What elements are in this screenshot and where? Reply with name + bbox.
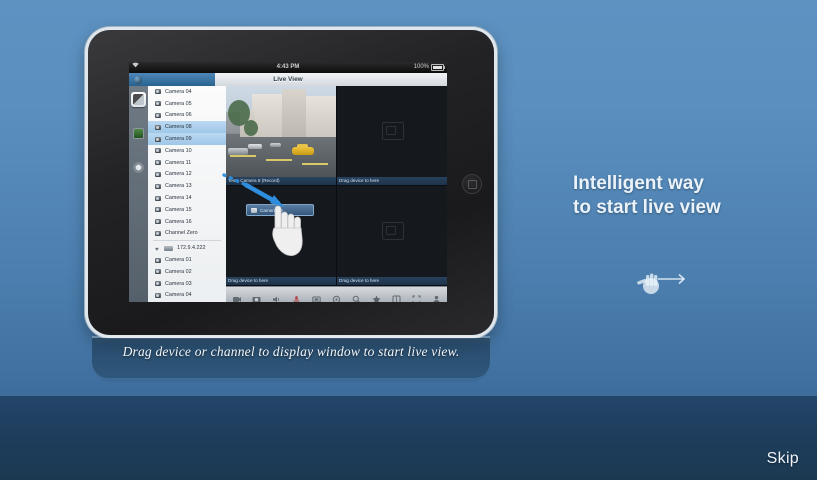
camera-icon bbox=[155, 281, 161, 286]
status-time: 4:43 PM bbox=[129, 62, 447, 73]
headline-line-1: Intelligent way bbox=[573, 172, 803, 196]
tree-item-label: Camera 15 bbox=[165, 207, 192, 213]
home-button-icon[interactable] bbox=[462, 174, 482, 194]
camera-icon bbox=[155, 113, 161, 118]
camera-icon bbox=[155, 269, 161, 274]
tree-item-camera[interactable]: Camera 11 bbox=[148, 157, 226, 169]
ios-status-bar: 4:43 PM 100% bbox=[129, 62, 447, 73]
camera-icon bbox=[155, 160, 161, 165]
camera-icon bbox=[251, 208, 257, 213]
empty-window-icon bbox=[382, 222, 404, 240]
tree-item-camera[interactable]: Camera 03 bbox=[148, 278, 226, 290]
tree-item-camera[interactable]: Channel Zero bbox=[148, 228, 226, 240]
tree-item-label: Camera 03 bbox=[165, 281, 192, 287]
tree-item-camera[interactable]: Camera 15 bbox=[148, 204, 226, 216]
empty-window-icon bbox=[382, 122, 404, 140]
tree-item-camera[interactable]: Camera 08 bbox=[148, 121, 226, 133]
sidebar-item-playback[interactable] bbox=[131, 126, 146, 141]
skip-button[interactable]: Skip bbox=[767, 450, 799, 468]
video-cell-label: Test : Camera 8 (Record) bbox=[226, 177, 336, 185]
tree-item-camera[interactable]: Camera 04 bbox=[148, 86, 226, 98]
video-cell-label: Drag device to here bbox=[226, 277, 336, 285]
tree-item-camera[interactable]: Camera 06 bbox=[148, 110, 226, 122]
device-tree-panel[interactable]: Camera 04Camera 05Camera 06Camera 08Came… bbox=[148, 86, 227, 302]
camera-icon bbox=[155, 207, 161, 212]
video-cell-label: Drag device to here bbox=[337, 177, 447, 185]
camera-icon bbox=[155, 101, 161, 106]
tree-item-camera[interactable]: Camera 01 bbox=[148, 254, 226, 266]
tree-item-label: Camera 13 bbox=[165, 183, 192, 189]
tree-item-label: Camera 16 bbox=[165, 219, 192, 225]
person-icon[interactable] bbox=[432, 291, 441, 300]
live-view-toolbar[interactable] bbox=[226, 286, 447, 302]
headline-line-2: to start live view bbox=[573, 196, 803, 220]
tree-item-camera[interactable]: Camera 16 bbox=[148, 216, 226, 228]
live-video-stream bbox=[226, 86, 336, 177]
tree-item-label: Camera 05 bbox=[165, 101, 192, 107]
tree-item-label: Camera 02 bbox=[165, 269, 192, 275]
playback-icon bbox=[133, 128, 144, 139]
tree-item-camera[interactable]: Camera 13 bbox=[148, 180, 226, 192]
tree-item-label: Camera 04 bbox=[165, 89, 192, 95]
camera-icon bbox=[155, 258, 161, 263]
video-cell-bottom-right[interactable]: Drag device to here bbox=[337, 186, 447, 285]
camera-icon bbox=[155, 219, 161, 224]
camera-icon bbox=[155, 184, 161, 189]
battery-percent-label: 100% bbox=[414, 62, 429, 73]
tree-item-label: Camera 11 bbox=[165, 160, 191, 166]
speaker-icon[interactable] bbox=[272, 291, 281, 300]
drag-ghost-label: Camera 09 bbox=[260, 208, 283, 213]
tree-item-label: Camera 14 bbox=[165, 195, 192, 201]
tree-item-camera[interactable]: Camera 05 bbox=[148, 98, 226, 110]
camera-icon bbox=[155, 125, 161, 130]
swipe-hand-icon bbox=[634, 266, 692, 296]
camera-icon bbox=[155, 196, 161, 201]
tree-item-label: Camera 09 bbox=[165, 136, 192, 142]
battery-full-icon bbox=[431, 64, 444, 71]
device-screen: 4:43 PM 100% Live View bbox=[129, 62, 447, 302]
chevron-down-icon[interactable] bbox=[155, 246, 160, 251]
tree-item-label: Camera 01 bbox=[165, 257, 192, 263]
tree-item-camera[interactable]: Camera 04 bbox=[148, 290, 226, 302]
tree-item-label: Camera 08 bbox=[165, 124, 192, 130]
camera-icon bbox=[155, 293, 161, 298]
sidebar-item-settings[interactable] bbox=[131, 160, 146, 175]
tree-item-device[interactable]: 172.9.4.222 bbox=[148, 242, 226, 254]
tree-separator bbox=[153, 240, 221, 241]
record-icon[interactable] bbox=[232, 291, 241, 300]
star-icon[interactable] bbox=[372, 291, 381, 300]
tree-item-camera[interactable]: Camera 09 bbox=[148, 133, 226, 145]
tree-item-camera[interactable]: Camera 12 bbox=[148, 169, 226, 181]
grid-icon[interactable] bbox=[392, 291, 401, 300]
app-nav-bar: Live View bbox=[129, 73, 447, 87]
tutorial-overlay-screen: Skip Intelligent way to start live view bbox=[0, 0, 817, 480]
camera-icon bbox=[155, 89, 161, 94]
app-side-rail bbox=[129, 86, 149, 302]
ptz-icon[interactable] bbox=[312, 291, 321, 300]
tree-item-label: 172.9.4.222 bbox=[177, 245, 205, 251]
device-icon bbox=[164, 246, 173, 251]
sidebar-item-live-view[interactable] bbox=[131, 92, 146, 107]
tree-item-label: Camera 10 bbox=[165, 148, 192, 154]
camera-icon bbox=[155, 148, 161, 153]
video-cell-top-right[interactable]: Drag device to here bbox=[337, 86, 447, 185]
camera-icon[interactable] bbox=[252, 291, 261, 300]
caption-text: Drag device or channel to display window… bbox=[92, 344, 490, 360]
tree-item-label: Camera 12 bbox=[165, 171, 192, 177]
tree-item-label: Camera 06 bbox=[165, 112, 192, 118]
drag-ghost-item: Camera 09 bbox=[246, 204, 314, 216]
ipad-device-frame: 4:43 PM 100% Live View bbox=[88, 30, 494, 335]
tree-item-camera[interactable]: Camera 10 bbox=[148, 145, 226, 157]
status-battery: 100% bbox=[414, 62, 444, 73]
video-cell-bottom-left[interactable]: Camera 09 Drag device to here bbox=[226, 186, 336, 285]
camera-icon bbox=[155, 137, 161, 142]
microphone-icon[interactable] bbox=[292, 291, 301, 300]
video-cell-top-left[interactable]: Test : Camera 8 (Record) bbox=[226, 86, 336, 185]
live-view-icon bbox=[133, 94, 144, 105]
fullscreen-icon[interactable] bbox=[412, 291, 421, 300]
preset-icon[interactable] bbox=[332, 291, 341, 300]
camera-icon bbox=[155, 172, 161, 177]
live-view-grid: Test : Camera 8 (Record) Drag device to … bbox=[226, 86, 447, 286]
video-cell-label: Drag device to here bbox=[337, 277, 447, 285]
gear-icon bbox=[133, 162, 144, 173]
tree-item-camera[interactable]: Camera 14 bbox=[148, 192, 226, 204]
tree-item-label: Camera 04 bbox=[165, 292, 192, 298]
nav-title: Live View bbox=[129, 73, 447, 86]
app-body: Camera 04Camera 05Camera 06Camera 08Came… bbox=[129, 86, 447, 302]
tree-item-camera[interactable]: Camera 02 bbox=[148, 266, 226, 278]
magnifier-icon[interactable] bbox=[352, 291, 361, 300]
page-title: Intelligent way to start live view bbox=[573, 172, 803, 220]
tree-item-label: Channel Zero bbox=[165, 230, 198, 236]
bottom-bar bbox=[0, 396, 817, 480]
camera-icon bbox=[155, 231, 161, 236]
